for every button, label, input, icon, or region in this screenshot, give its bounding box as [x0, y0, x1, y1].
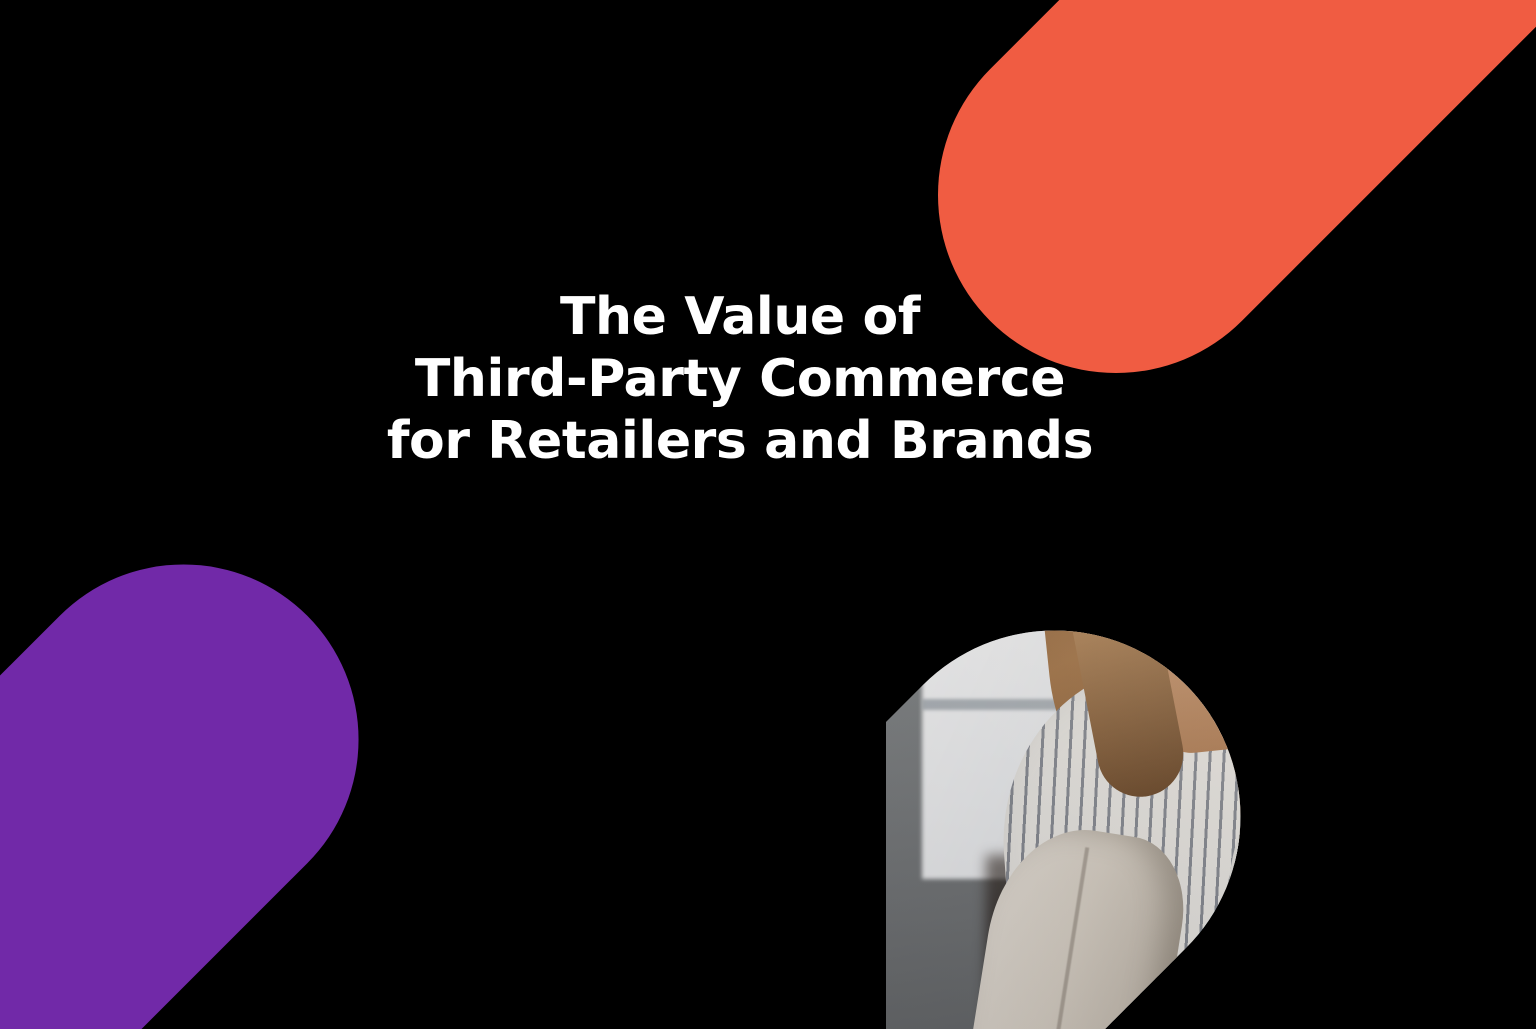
photo-unrotate-layer	[1186, 553, 1318, 871]
photo-capsule-mask	[517, 553, 1317, 1029]
desk-leg	[1286, 855, 1318, 1029]
teeth-detail	[1158, 584, 1288, 623]
title-line-1: The Value of	[0, 286, 1480, 348]
title-line-3: for Retailers and Brands	[0, 410, 1480, 472]
boutique-photo	[886, 553, 1318, 1029]
purple-capsule-shape	[0, 492, 431, 1029]
hair-strand-right	[1271, 553, 1318, 773]
glasses-lens-left	[1089, 553, 1203, 570]
hair-front	[1059, 553, 1317, 582]
page-title: The Value of Third-Party Commerce for Re…	[0, 286, 1480, 472]
finger	[1288, 656, 1318, 782]
nose	[1196, 553, 1244, 586]
glasses-lens-right	[1228, 553, 1317, 556]
slide-canvas: The Value of Third-Party Commerce for Re…	[0, 0, 1536, 1029]
eyeglasses	[1089, 553, 1318, 574]
teeth	[1158, 584, 1288, 623]
smiling-mouth	[1152, 580, 1296, 648]
cheek-right	[1256, 553, 1318, 559]
finger	[1243, 647, 1316, 767]
cheek-left	[1122, 553, 1188, 563]
title-line-2: Third-Party Commerce	[0, 348, 1480, 410]
